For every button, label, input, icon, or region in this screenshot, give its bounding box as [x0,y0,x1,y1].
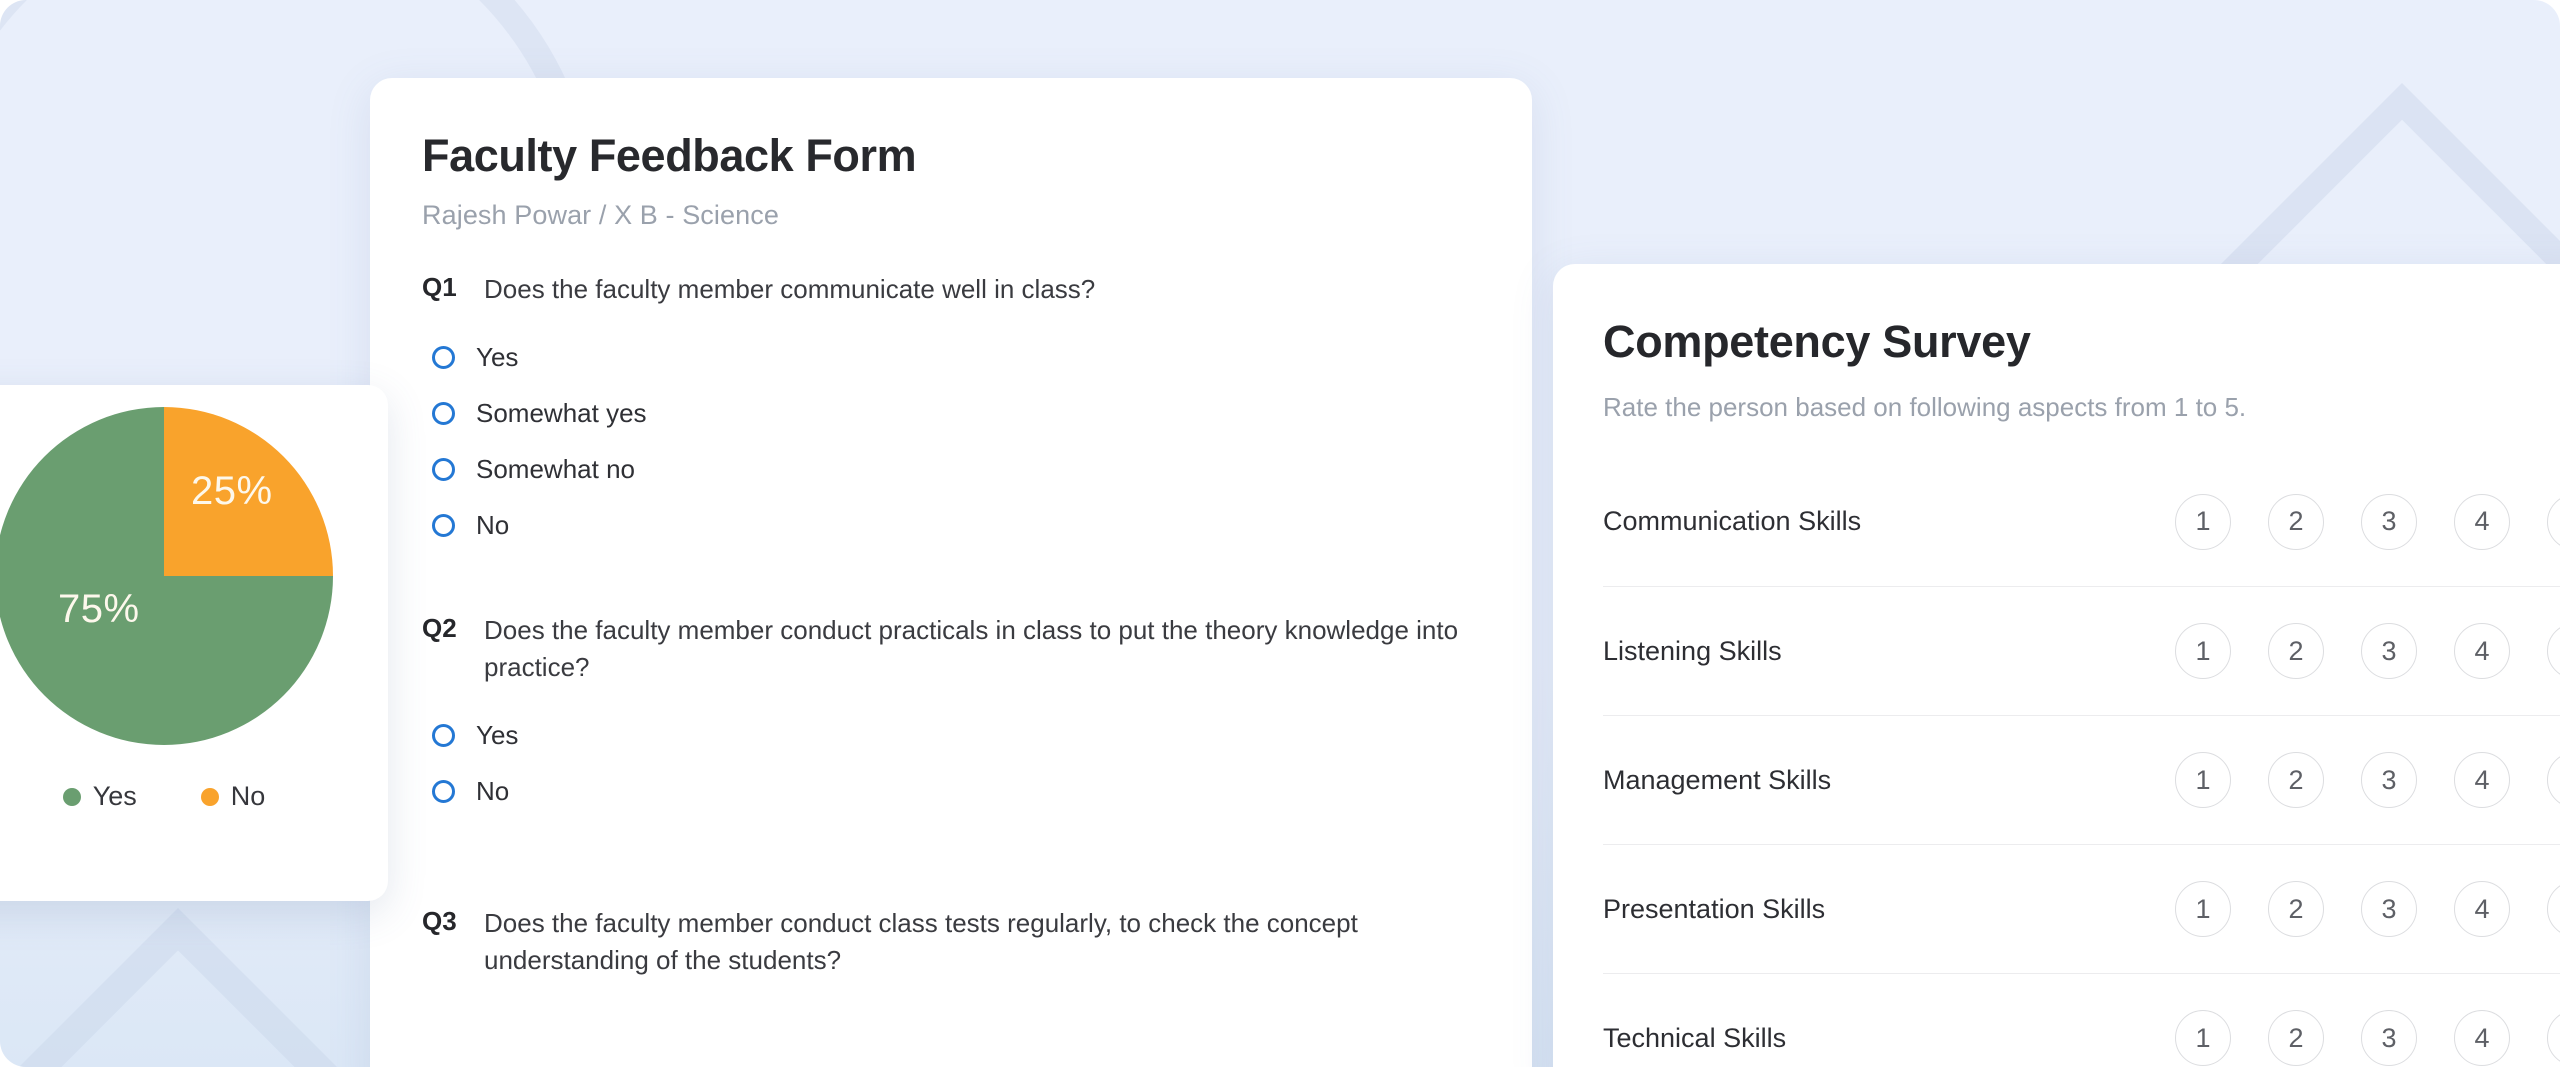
pie-slices [0,407,333,745]
question-number-q2: Q2 [422,612,464,644]
legend-dot-no-icon [201,788,219,806]
rating-option-4[interactable]: 4 [2454,623,2510,679]
option-q2-yes[interactable]: Yes [432,707,1470,763]
rating-scale: 12345 [2175,623,2560,679]
question-text-q1: Does the faculty member communicate well… [484,271,1095,308]
survey-row: Presentation Skills12345 [1603,844,2560,973]
survey-row-label: Communication Skills [1603,506,2175,537]
rating-option-2[interactable]: 2 [2268,881,2324,937]
rating-option-5[interactable]: 5 [2547,881,2560,937]
legend-label: No [231,781,266,812]
rating-option-2[interactable]: 2 [2268,623,2324,679]
rating-option-5[interactable]: 5 [2547,623,2560,679]
radio-icon[interactable] [432,780,455,803]
rating-option-5[interactable]: 5 [2547,1010,2560,1066]
options-q2: Yes No [422,707,1470,819]
survey-row: Listening Skills12345 [1603,586,2560,715]
rating-option-4[interactable]: 4 [2454,881,2510,937]
faculty-feedback-form-card: Faculty Feedback Form Rajesh Powar / X B… [370,78,1532,1067]
survey-row-label: Listening Skills [1603,636,2175,667]
rating-option-3[interactable]: 3 [2361,494,2417,550]
question-block-q1: Q1 Does the faculty member communicate w… [422,271,1470,554]
rating-option-4[interactable]: 4 [2454,494,2510,550]
survey-row: Management Skills12345 [1603,715,2560,844]
question-text-q2: Does the faculty member conduct practica… [484,612,1470,686]
legend-item-yes: Yes [63,781,137,812]
page-title: Faculty Feedback Form [422,130,1470,182]
pie-legend: Yes No [0,781,388,812]
form-subtitle: Rajesh Powar / X B - Science [422,200,1470,231]
rating-option-2[interactable]: 2 [2268,1010,2324,1066]
rating-option-2[interactable]: 2 [2268,494,2324,550]
question-block-q2: Q2 Does the faculty member conduct pract… [422,612,1470,820]
question-block-q3: Q3 Does the faculty member conduct class… [422,905,1470,979]
rating-option-1[interactable]: 1 [2175,494,2231,550]
rating-option-5[interactable]: 5 [2547,494,2560,550]
option-q2-no[interactable]: No [432,763,1470,819]
survey-row: Technical Skills12345 [1603,973,2560,1067]
radio-icon[interactable] [432,724,455,747]
option-label: No [476,776,509,807]
pie-chart-card: 25% 75% Yes No [0,385,388,901]
radio-icon[interactable] [432,346,455,369]
survey-rows: Communication Skills12345Listening Skill… [1603,457,2560,1067]
survey-subtitle: Rate the person based on following aspec… [1603,392,2560,423]
rating-scale: 12345 [2175,752,2560,808]
rating-option-1[interactable]: 1 [2175,1010,2231,1066]
option-label: Somewhat no [476,454,635,485]
pie-chart: 25% 75% [0,407,333,745]
option-label: Yes [476,720,518,751]
survey-row-label: Management Skills [1603,765,2175,796]
option-q1-somewhat-yes[interactable]: Somewhat yes [432,386,1470,442]
rating-option-1[interactable]: 1 [2175,881,2231,937]
rating-scale: 12345 [2175,494,2560,550]
legend-label: Yes [93,781,137,812]
survey-row-label: Technical Skills [1603,1023,2175,1054]
option-label: Somewhat yes [476,398,647,429]
question-number-q1: Q1 [422,271,464,303]
rating-option-5[interactable]: 5 [2547,752,2560,808]
pie-label-no: 25% [191,469,273,514]
radio-icon[interactable] [432,514,455,537]
radio-icon[interactable] [432,402,455,425]
legend-item-no: No [201,781,266,812]
pie-label-yes: 75% [58,587,140,632]
rating-scale: 12345 [2175,1010,2560,1066]
rating-option-3[interactable]: 3 [2361,1010,2417,1066]
option-label: No [476,510,509,541]
options-q1: Yes Somewhat yes Somewhat no No [422,330,1470,554]
survey-row: Communication Skills12345 [1603,457,2560,586]
survey-title: Competency Survey [1603,316,2560,368]
rating-option-2[interactable]: 2 [2268,752,2324,808]
question-row-q1: Q1 Does the faculty member communicate w… [422,271,1470,308]
rating-option-3[interactable]: 3 [2361,752,2417,808]
survey-row-label: Presentation Skills [1603,894,2175,925]
option-q1-no[interactable]: No [432,498,1470,554]
rating-option-1[interactable]: 1 [2175,623,2231,679]
competency-survey-card: Competency Survey Rate the person based … [1553,264,2560,1067]
rating-scale: 12345 [2175,881,2560,937]
rating-option-4[interactable]: 4 [2454,752,2510,808]
rating-option-4[interactable]: 4 [2454,1010,2510,1066]
rating-option-3[interactable]: 3 [2361,881,2417,937]
option-label: Yes [476,342,518,373]
question-number-q3: Q3 [422,905,464,937]
rating-option-3[interactable]: 3 [2361,623,2417,679]
question-row-q2: Q2 Does the faculty member conduct pract… [422,612,1470,686]
question-row-q3: Q3 Does the faculty member conduct class… [422,905,1470,979]
rating-option-1[interactable]: 1 [2175,752,2231,808]
legend-dot-yes-icon [63,788,81,806]
option-q1-somewhat-no[interactable]: Somewhat no [432,442,1470,498]
option-q1-yes[interactable]: Yes [432,330,1470,386]
screen: Faculty Feedback Form Rajesh Powar / X B… [0,0,2560,1067]
question-text-q3: Does the faculty member conduct class te… [484,905,1470,979]
radio-icon[interactable] [432,458,455,481]
